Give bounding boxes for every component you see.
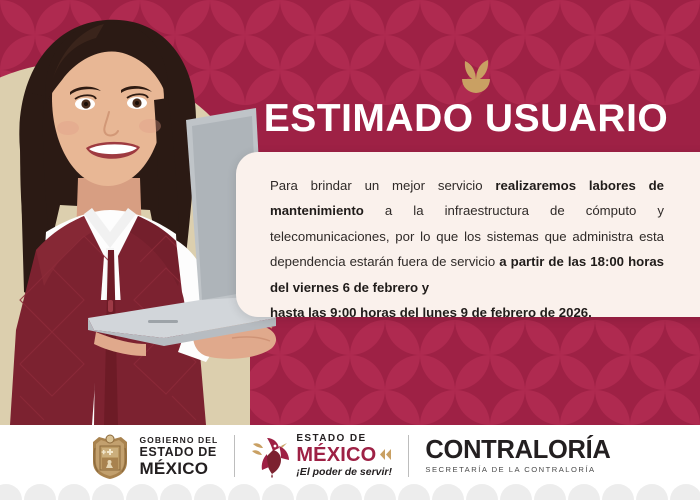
footer-bar: GOBIERNO DEL ESTADO DE MÉXICO — [0, 425, 700, 500]
estado-de-mexico-coat-of-arms-icon — [89, 432, 131, 480]
maintenance-notice-poster: ESTIMADO USUARIO Para brindar un mejor s… — [0, 0, 700, 500]
message-part-bold-3: hasta las 9:00 horas del lunes 9 de febr… — [270, 300, 664, 325]
contraloria-title: CONTRALORÍA — [425, 438, 610, 464]
estado-de-mexico-brand-logo: ESTADO DE MÉXICO ¡El poder de servir! — [251, 434, 392, 478]
gobierno-line-3: MÉXICO — [139, 460, 218, 477]
maintenance-message: Para brindar un mejor servicio realizare… — [270, 173, 664, 325]
message-part-normal-1: Para brindar un mejor servicio — [270, 178, 495, 193]
footer-divider-2 — [408, 435, 409, 477]
poster-stage: ESTIMADO USUARIO Para brindar un mejor s… — [0, 0, 700, 425]
contraloria-logo: CONTRALORÍA SECRETARÍA DE LA CONTRALORÍA — [425, 438, 610, 474]
edomex-line-2: MÉXICO — [296, 445, 376, 465]
footer-divider-1 — [234, 435, 235, 477]
page-title: ESTIMADO USUARIO — [246, 95, 686, 143]
sprout-leaf-ornament-icon — [452, 55, 500, 95]
contraloria-subtitle: SECRETARÍA DE LA CONTRALORÍA — [425, 466, 610, 474]
double-chevron-icon — [379, 448, 392, 461]
message-card: Para brindar un mejor servicio realizare… — [236, 152, 700, 317]
gobierno-estado-de-mexico-logo: GOBIERNO DEL ESTADO DE MÉXICO — [89, 432, 218, 480]
hummingbird-icon — [251, 434, 291, 478]
gobierno-line-2: ESTADO DE — [139, 446, 218, 459]
edomex-tagline: ¡El poder de servir! — [296, 467, 392, 478]
gobierno-line-1: GOBIERNO DEL — [139, 436, 218, 445]
footer-scallop-pattern — [0, 480, 700, 500]
edomex-line-1: ESTADO DE — [296, 434, 392, 444]
